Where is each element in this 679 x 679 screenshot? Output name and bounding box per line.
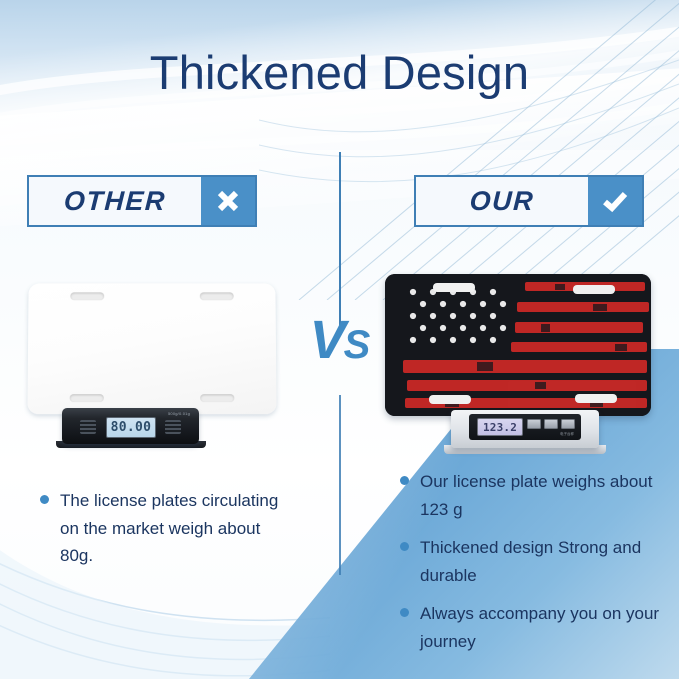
bullet-dot-icon: [400, 476, 409, 485]
badge-other-label: OTHER: [28, 177, 203, 225]
right-scale: 123.2 电子台秤: [451, 410, 599, 448]
list-item-text: Our license plate weighs about 123 g: [420, 468, 662, 523]
right-scale-sub-text: 电子台秤: [560, 432, 574, 437]
badge-our-label: OUR: [415, 177, 590, 225]
plate-mount-slot: [200, 394, 234, 402]
plate-mount-slot: [200, 292, 234, 300]
list-item-text: Thickened design Strong and durable: [420, 534, 662, 589]
plate-mount-slot: [575, 394, 617, 403]
blank-license-plate: [27, 283, 276, 414]
bullet-dot-icon: [40, 495, 49, 504]
list-item-text: Always accompany you on your journey: [420, 600, 662, 655]
check-icon: [588, 177, 642, 225]
right-bullet-list: Our license plate weighs about 123 g Thi…: [400, 468, 662, 666]
vertical-divider-bottom: [339, 395, 341, 575]
left-scale: 500g/0.01g 80.00: [62, 408, 199, 444]
plate-mount-slot: [433, 283, 475, 292]
plate-mount-slot: [573, 285, 615, 294]
list-item-text: The license plates circulating on the ma…: [60, 487, 295, 570]
list-item: Always accompany you on your journey: [400, 600, 662, 655]
badge-other: OTHER: [27, 175, 257, 227]
left-scale-brand-text: 500g/0.01g: [168, 411, 190, 416]
right-scale-display: 123.2: [477, 418, 523, 436]
unit-button[interactable]: [527, 419, 541, 429]
left-bullet-list: The license plates circulating on the ma…: [40, 487, 295, 581]
bullet-dot-icon: [400, 542, 409, 551]
versus-s: S: [344, 323, 371, 367]
flag-license-plate: [385, 274, 651, 416]
cross-icon: [201, 177, 255, 225]
bullet-dot-icon: [400, 608, 409, 617]
right-scale-panel: 123.2 电子台秤: [469, 414, 581, 440]
list-item: The license plates circulating on the ma…: [40, 487, 295, 570]
badge-our: OUR: [414, 175, 644, 227]
versus-label: VS: [300, 313, 380, 367]
plate-mount-slot: [429, 395, 471, 404]
left-scale-vent: [80, 420, 96, 434]
page-title: Thickened Design: [0, 48, 679, 97]
versus-v: V: [310, 310, 344, 370]
infographic-canvas: Thickened Design OTHER OUR VS 5: [0, 0, 679, 679]
list-item: Our license plate weighs about 123 g: [400, 468, 662, 523]
plate-mount-slot: [70, 394, 104, 402]
tare-button[interactable]: [544, 419, 558, 429]
left-scale-vent: [165, 420, 181, 434]
plate-mount-slot: [70, 292, 104, 300]
background-diagonal-lines-decoration: [259, 0, 679, 300]
power-button[interactable]: [561, 419, 575, 429]
left-scale-display: 80.00: [106, 417, 156, 438]
vertical-divider-top: [339, 152, 341, 334]
list-item: Thickened design Strong and durable: [400, 534, 662, 589]
right-scale-buttons: [527, 419, 575, 429]
